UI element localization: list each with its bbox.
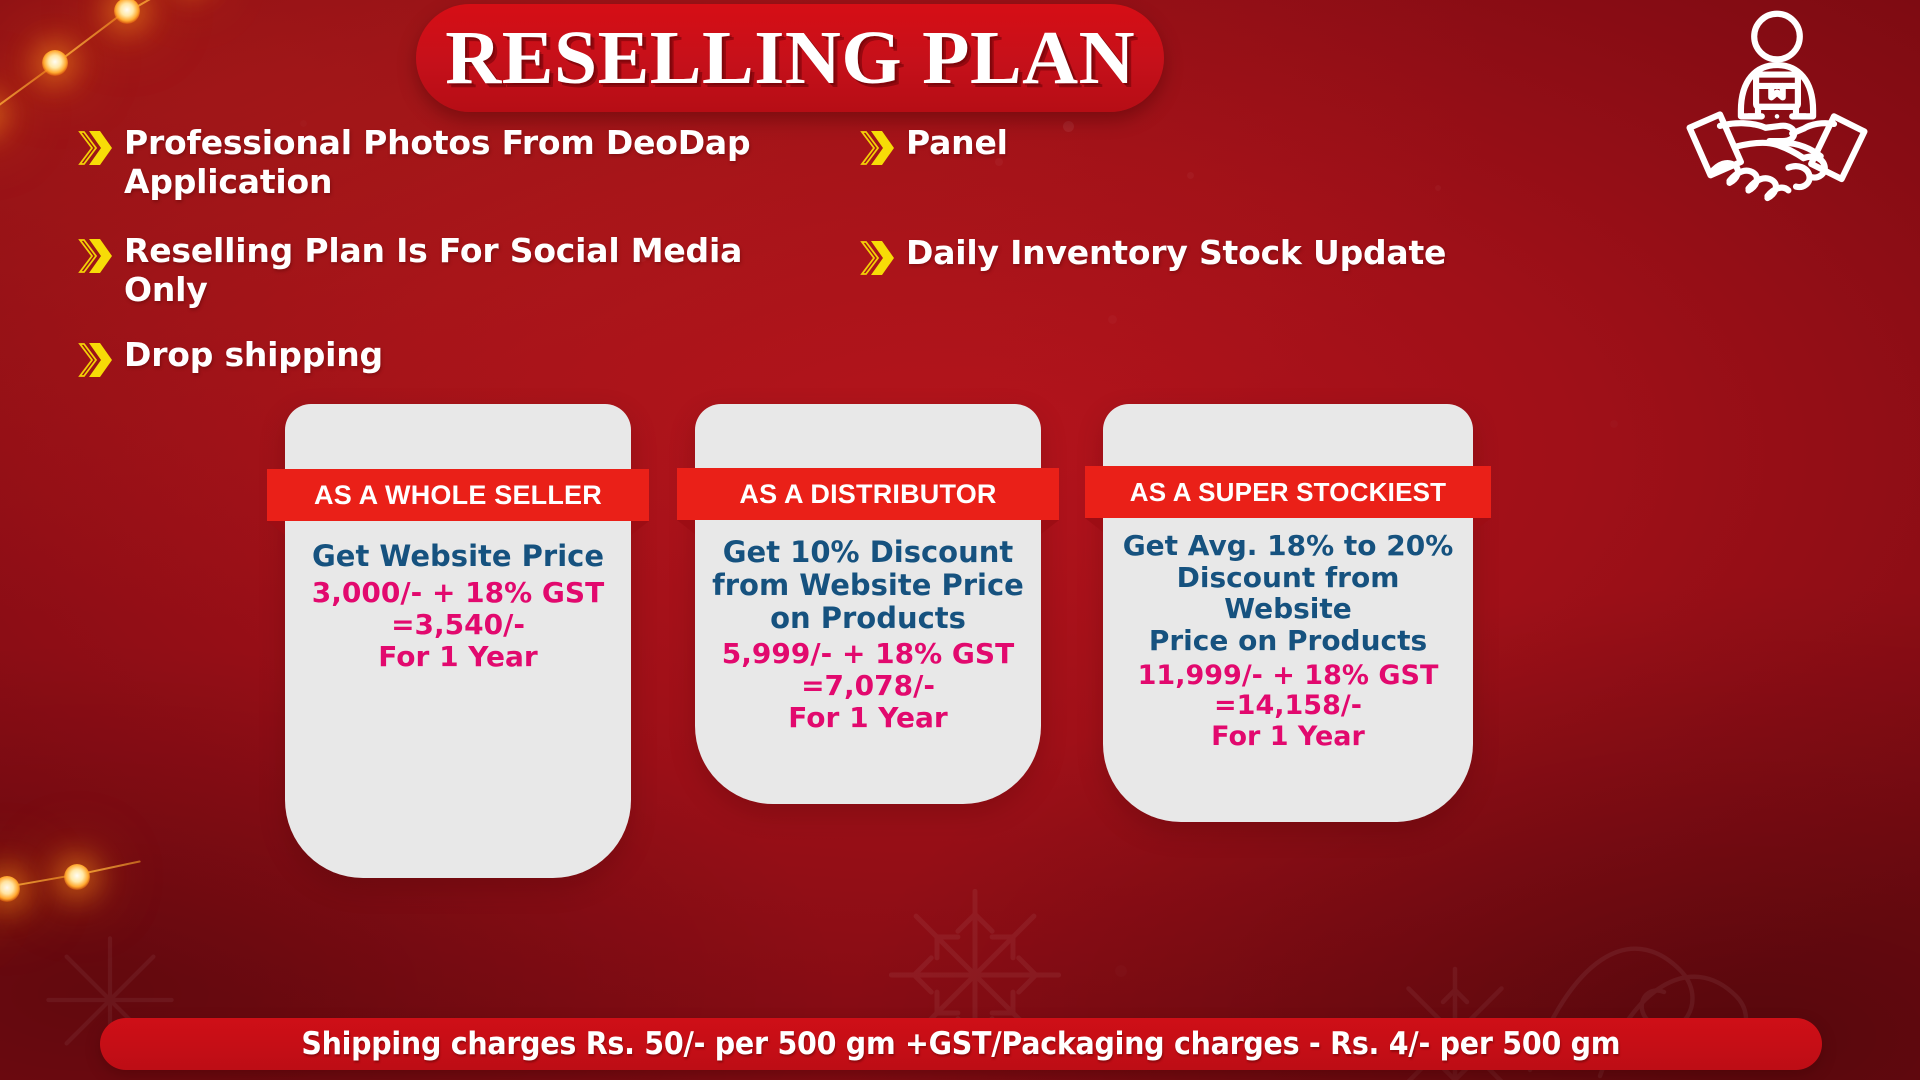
plan-card-distributor[interactable]: AS A DISTRIBUTOR Get 10% Discountfrom We…	[695, 404, 1041, 804]
plan-headline: Get Website Price	[299, 540, 617, 573]
feature-item-2: Reselling Plan Is For Social Media Only	[78, 232, 818, 310]
plan-card-super-stockiest[interactable]: AS A SUPER STOCKIEST Get Avg. 18% to 20%…	[1103, 404, 1473, 822]
plan-card-body: Get 10% Discountfrom Website Priceon Pro…	[695, 404, 1041, 734]
footer-text: Shipping charges Rs. 50/- per 500 gm +GS…	[302, 1026, 1621, 1062]
plan-ribbon-label: AS A WHOLE SELLER	[314, 480, 602, 511]
feature-item-3: Daily Inventory Stock Update	[860, 234, 1560, 278]
plan-price: 11,999/- + 18% GST=14,158/-For 1 Year	[1117, 661, 1459, 753]
feature-item-4: Drop shipping	[78, 336, 498, 380]
double-chevron-right-icon	[78, 128, 112, 168]
title-banner: RESELLING PLAN	[416, 4, 1164, 112]
plan-headline: Get Avg. 18% to 20%Discount fromWebsiteP…	[1117, 530, 1459, 657]
plan-ribbon: AS A DISTRIBUTOR	[677, 468, 1059, 520]
double-chevron-right-icon	[78, 340, 112, 380]
feature-item-0: Professional Photos From DeoDap Applicat…	[78, 124, 778, 202]
plan-ribbon: AS A WHOLE SELLER	[267, 469, 649, 521]
plan-ribbon: AS A SUPER STOCKIEST	[1085, 466, 1491, 518]
plan-ribbon-label: AS A SUPER STOCKIEST	[1130, 477, 1447, 508]
plan-card-body: Get Website Price 3,000/- + 18% GST=3,54…	[285, 404, 631, 672]
plan-cards: AS A WHOLE SELLER Get Website Price 3,00…	[0, 404, 1920, 1004]
double-chevron-right-icon	[860, 128, 894, 168]
fleck	[1187, 172, 1194, 179]
plan-card-whole-seller[interactable]: AS A WHOLE SELLER Get Website Price 3,00…	[285, 404, 631, 878]
double-chevron-right-icon	[78, 236, 112, 276]
plan-price: 5,999/- + 18% GST=7,078/-For 1 Year	[709, 638, 1027, 734]
plan-headline: Get 10% Discountfrom Website Priceon Pro…	[709, 536, 1027, 634]
plan-ribbon-label: AS A DISTRIBUTOR	[739, 479, 996, 510]
feature-label: Daily Inventory Stock Update	[906, 234, 1446, 273]
double-chevron-right-icon	[860, 238, 894, 278]
page-title: RESELLING PLAN	[445, 20, 1135, 96]
feature-label: Professional Photos From DeoDap Applicat…	[124, 124, 778, 202]
footer-bar: Shipping charges Rs. 50/- per 500 gm +GS…	[100, 1018, 1822, 1070]
fleck	[1108, 315, 1117, 324]
plan-card-body: Get Avg. 18% to 20%Discount fromWebsiteP…	[1103, 404, 1473, 753]
feature-label: Reselling Plan Is For Social Media Only	[124, 232, 818, 310]
plan-price: 3,000/- + 18% GST=3,540/-For 1 Year	[299, 577, 617, 673]
feature-label: Panel	[906, 124, 1008, 163]
feature-item-1: Panel	[860, 124, 1480, 168]
handshake-icon	[1682, 4, 1872, 204]
fleck	[1435, 185, 1441, 191]
feature-label: Drop shipping	[124, 336, 383, 375]
